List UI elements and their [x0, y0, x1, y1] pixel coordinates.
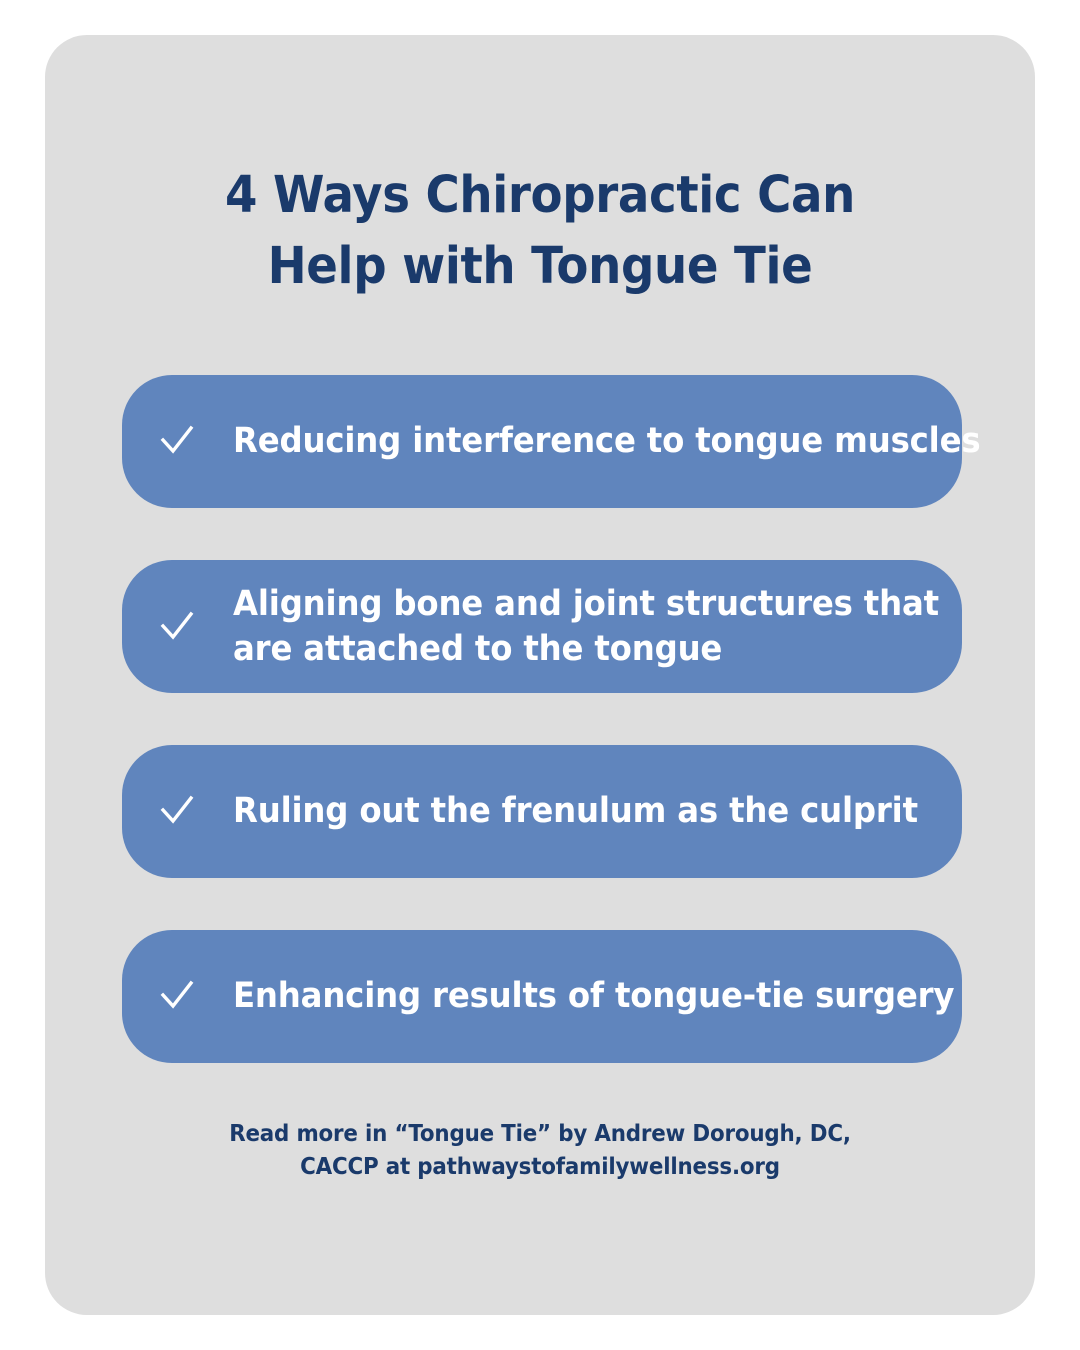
checkmark-icon [160, 610, 194, 644]
source-note-line-1: Read more in “Tongue Tie” by Andrew Doro… [80, 1118, 1001, 1151]
infographic-card: 4 Ways Chiropractic Can Help with Tongue… [45, 35, 1035, 1315]
page-title-line-1: 4 Ways Chiropractic Can [87, 160, 993, 231]
page-title: 4 Ways Chiropractic Can Help with Tongue… [87, 160, 993, 302]
checkmark-icon [160, 424, 194, 458]
benefit-pill-3[interactable]: Ruling out the frenulum as the culprit [122, 745, 962, 878]
benefit-list: Reducing interference to tongue muscles … [122, 375, 962, 1063]
benefit-text-2-line-2: are attached to the tongue [233, 627, 939, 672]
benefit-pill-4[interactable]: Enhancing results of tongue-tie surgery [122, 930, 962, 1063]
benefit-text-2: Aligning bone and joint structures that … [233, 582, 939, 672]
benefit-text-3-line-1: Ruling out the frenulum as the culprit [233, 789, 918, 834]
benefit-text-2-line-1: Aligning bone and joint structures that [233, 582, 939, 627]
benefit-text-4-line-1: Enhancing results of tongue-tie surgery [233, 974, 954, 1019]
checkmark-icon [160, 794, 194, 828]
source-note-line-2: CACCP at pathwaystofamilywellness.org [80, 1151, 1001, 1184]
source-note: Read more in “Tongue Tie” by Andrew Doro… [80, 1118, 1001, 1184]
benefit-text-3: Ruling out the frenulum as the culprit [233, 789, 918, 834]
page-title-line-2: Help with Tongue Tie [87, 231, 993, 302]
benefit-text-1: Reducing interference to tongue muscles [233, 419, 980, 464]
benefit-pill-1[interactable]: Reducing interference to tongue muscles [122, 375, 962, 508]
benefit-text-4: Enhancing results of tongue-tie surgery [233, 974, 954, 1019]
benefit-text-1-line-1: Reducing interference to tongue muscles [233, 419, 980, 464]
benefit-pill-2[interactable]: Aligning bone and joint structures that … [122, 560, 962, 693]
checkmark-icon [160, 979, 194, 1013]
